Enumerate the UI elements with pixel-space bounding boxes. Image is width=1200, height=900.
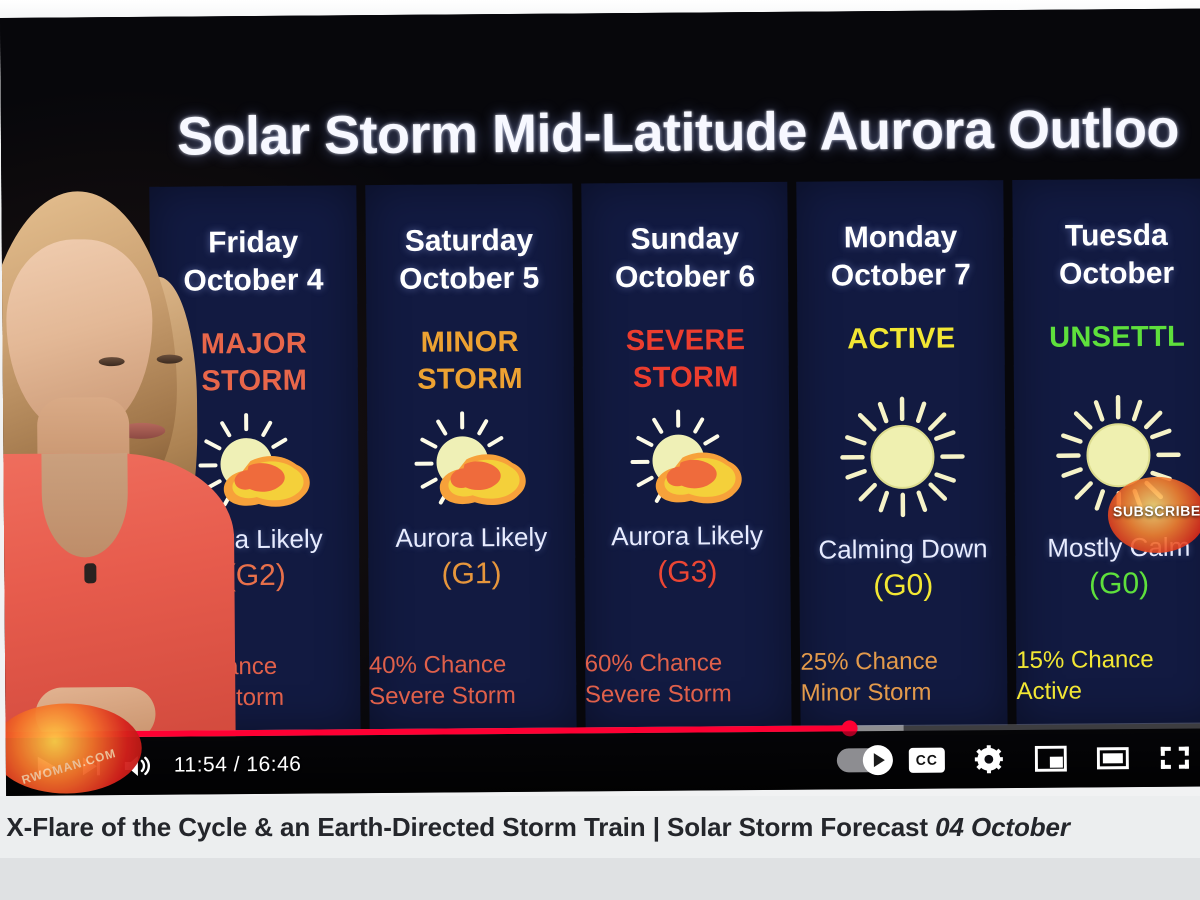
presenter-video-overlay (0, 184, 270, 739)
video-title-prefix: est X-Flare of the Cycle & an Earth-Dire… (0, 812, 935, 842)
sun-with-flare-icon (367, 401, 575, 521)
forecast-column-tuesday: Tuesda October UNSETTL (1012, 178, 1200, 725)
sun-with-flare-icon (583, 400, 791, 520)
video-player[interactable]: Solar Storm Mid-Latitude Aurora Outloo F… (0, 9, 1200, 796)
lavalier-mic-icon (84, 563, 96, 583)
storm-status-line1: ACTIVE (798, 320, 1005, 359)
day-name: Tuesda (1013, 216, 1200, 255)
g-level: (G1) (368, 555, 575, 594)
fullscreen-icon (1160, 745, 1190, 771)
chance-line1: 60% Chance (585, 648, 792, 680)
time-display: 11:54 / 16:46 (174, 753, 302, 778)
fullscreen-button[interactable] (1144, 735, 1200, 781)
g-level: (G3) (584, 553, 791, 592)
theater-mode-button[interactable] (1082, 735, 1144, 781)
day-date: October (1013, 254, 1200, 293)
sun-icon (798, 381, 1006, 533)
autoplay-toggle-icon[interactable] (837, 748, 893, 772)
storm-status-line1: UNSETTL (1014, 318, 1200, 357)
day-name: Sunday (581, 220, 788, 259)
day-name: Saturday (365, 222, 572, 261)
subscribe-label: SUBSCRIBE (1108, 503, 1200, 520)
photo-of-screen: Solar Storm Mid-Latitude Aurora Outloo F… (0, 0, 1200, 900)
chance-line1: 15% Chance (1016, 644, 1200, 676)
slide-headline: Solar Storm Mid-Latitude Aurora Outloo (177, 100, 1200, 165)
video-title-date: 04 October (935, 812, 1070, 842)
g-level: (G0) (800, 566, 1007, 605)
storm-status-line1: MINOR (366, 323, 573, 362)
video-title-bar: est X-Flare of the Cycle & an Earth-Dire… (0, 796, 1200, 858)
chance-line2: Minor Storm (801, 677, 1008, 709)
control-spacer (301, 760, 833, 764)
eye (99, 357, 125, 366)
miniplayer-icon (1035, 746, 1067, 772)
day-date: October 5 (366, 259, 573, 298)
chance-line1: 25% Chance (800, 646, 1007, 678)
aurora-text: Aurora Likely (368, 521, 575, 554)
forecast-column-monday: Monday October 7 ACTIVE (797, 180, 1008, 727)
g-level: (G0) (1016, 564, 1200, 603)
chance-line1: 40% Chance (369, 650, 576, 682)
player-control-bar: 11:54 / 16:46 CC (6, 728, 1200, 796)
video-scene: Solar Storm Mid-Latitude Aurora Outloo F… (0, 9, 1200, 738)
day-name: Monday (797, 218, 1004, 257)
aurora-text: Calming Down (799, 533, 1006, 566)
captions-button[interactable]: CC (896, 737, 958, 783)
miniplayer-button[interactable] (1020, 736, 1082, 782)
day-date: October 7 (797, 256, 1004, 295)
subscribe-watermark[interactable]: SUBSCRIBE (1108, 477, 1200, 554)
aurora-text: Aurora Likely (584, 520, 791, 553)
autoplay-toggle[interactable] (834, 737, 896, 783)
chance-line2: Active (1016, 675, 1200, 707)
gear-icon (974, 744, 1004, 774)
video-title[interactable]: est X-Flare of the Cycle & an Earth-Dire… (0, 812, 1070, 843)
storm-status-line2: STORM (367, 360, 574, 399)
forecast-column-saturday: Saturday October 5 MINOR STORM (365, 184, 576, 731)
forecast-column-sunday: Sunday October 6 SEVERE STORM (581, 182, 792, 729)
settings-button[interactable] (958, 736, 1020, 782)
storm-status-line1: SEVERE (582, 321, 789, 360)
forecast-panel-strip: Friday October 4 MAJOR STORM (149, 178, 1200, 731)
chance-line2: Severe Storm (585, 678, 792, 710)
theater-mode-icon (1097, 745, 1129, 771)
cc-label: CC (909, 747, 945, 772)
page-background-below (0, 858, 1200, 900)
chance-line2: Severe Storm (369, 680, 576, 712)
day-date: October 6 (582, 258, 789, 297)
storm-status-line2: STORM (582, 359, 789, 398)
